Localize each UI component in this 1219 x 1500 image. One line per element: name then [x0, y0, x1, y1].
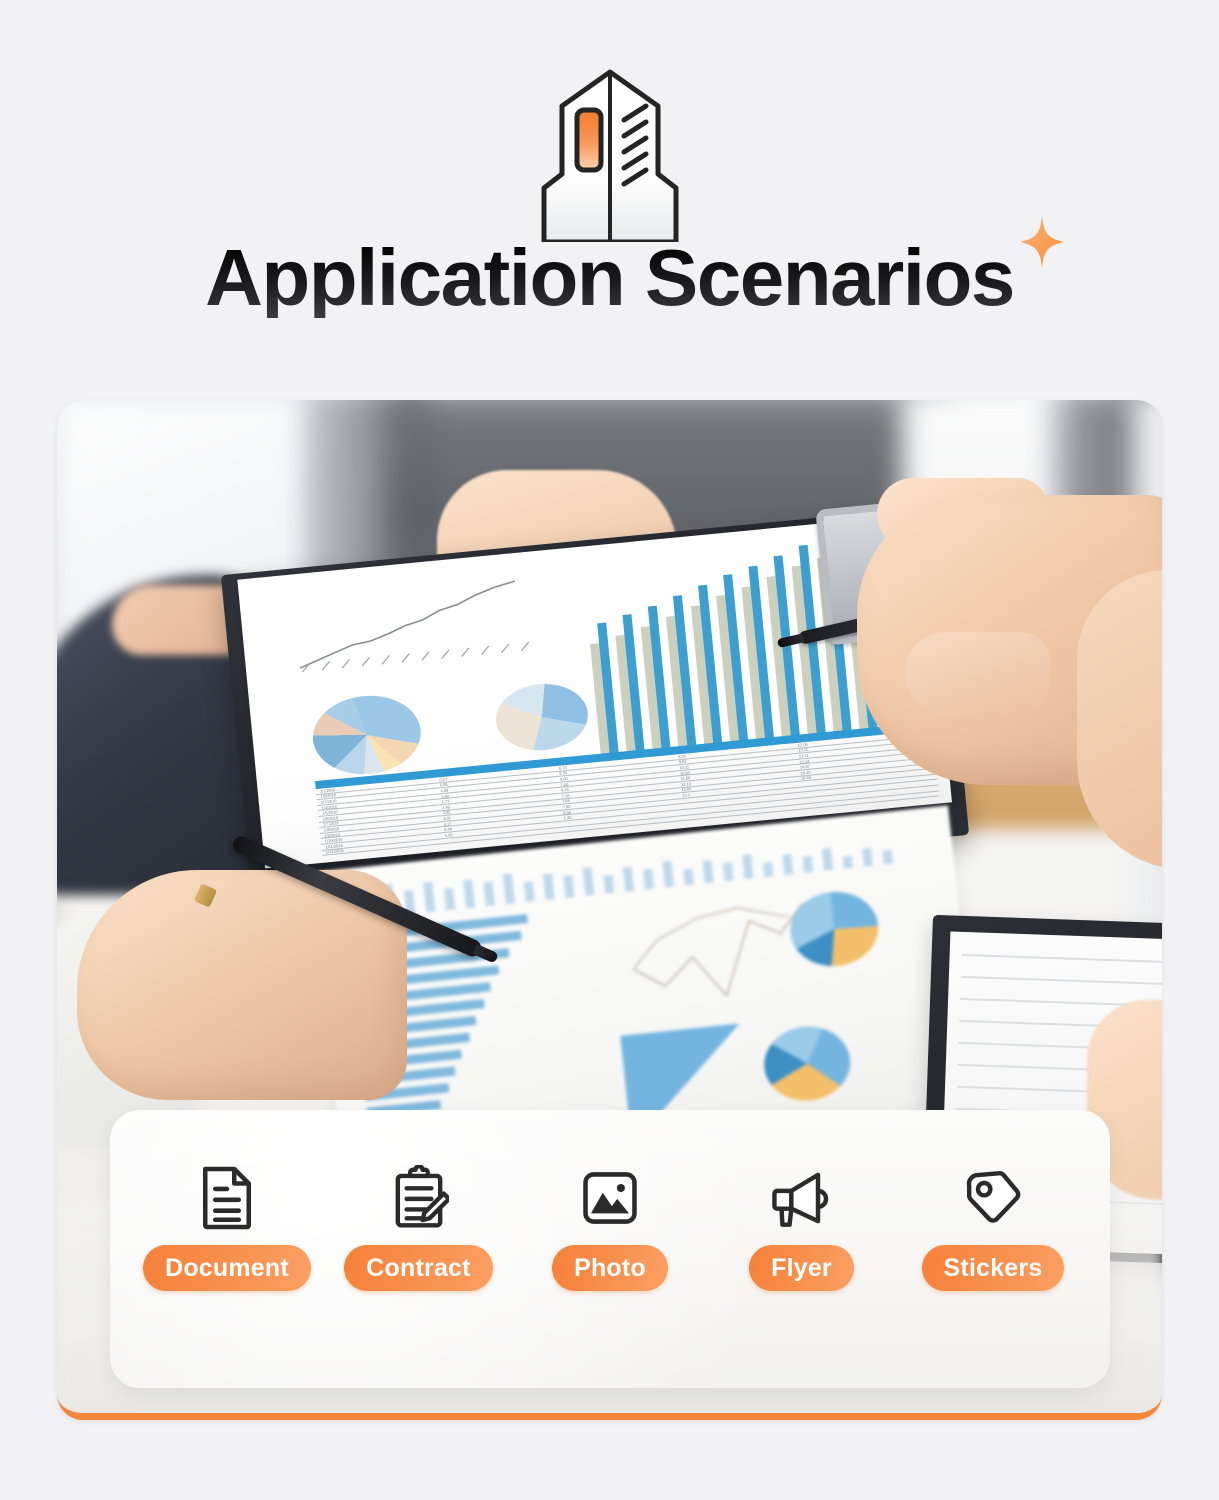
- category-item-document[interactable]: Document: [134, 1162, 320, 1291]
- report-pie-2: [761, 1022, 854, 1105]
- sparkle-icon: [1020, 216, 1064, 268]
- category-pill-photo[interactable]: Photo: [552, 1245, 668, 1291]
- image-icon: [574, 1162, 646, 1234]
- megaphone-icon: [766, 1162, 838, 1234]
- category-list: Document Con: [110, 1162, 1110, 1291]
- document-icon: [191, 1162, 263, 1234]
- pie-chart-art-2: [493, 680, 591, 755]
- page-header: Application Scenarios: [0, 0, 1219, 372]
- finger-lower: [905, 632, 1050, 717]
- category-pill-document[interactable]: Document: [143, 1245, 311, 1291]
- page-title-row: Application Scenarios: [0, 238, 1219, 318]
- building-skyscraper-icon: [500, 62, 720, 242]
- category-item-photo[interactable]: Photo: [517, 1162, 703, 1291]
- page-title: Application Scenarios: [205, 238, 1014, 318]
- clipboard-pen-icon: [383, 1162, 455, 1234]
- category-item-contract[interactable]: Contract: [326, 1162, 512, 1291]
- line-chart-art: [289, 575, 545, 677]
- pie-chart-art-1: [309, 691, 424, 779]
- price-tag-icon: [957, 1162, 1029, 1234]
- scenario-categories-panel: Document Con: [110, 1110, 1110, 1388]
- category-pill-contract[interactable]: Contract: [344, 1245, 492, 1291]
- category-pill-stickers[interactable]: Stickers: [922, 1245, 1065, 1291]
- scatter-chart-art: [617, 891, 819, 1030]
- category-item-stickers[interactable]: Stickers: [900, 1162, 1086, 1291]
- application-scenarios-page: Application Scenarios: [0, 0, 1219, 1500]
- category-pill-flyer[interactable]: Flyer: [749, 1245, 854, 1291]
- category-item-flyer[interactable]: Flyer: [709, 1162, 895, 1291]
